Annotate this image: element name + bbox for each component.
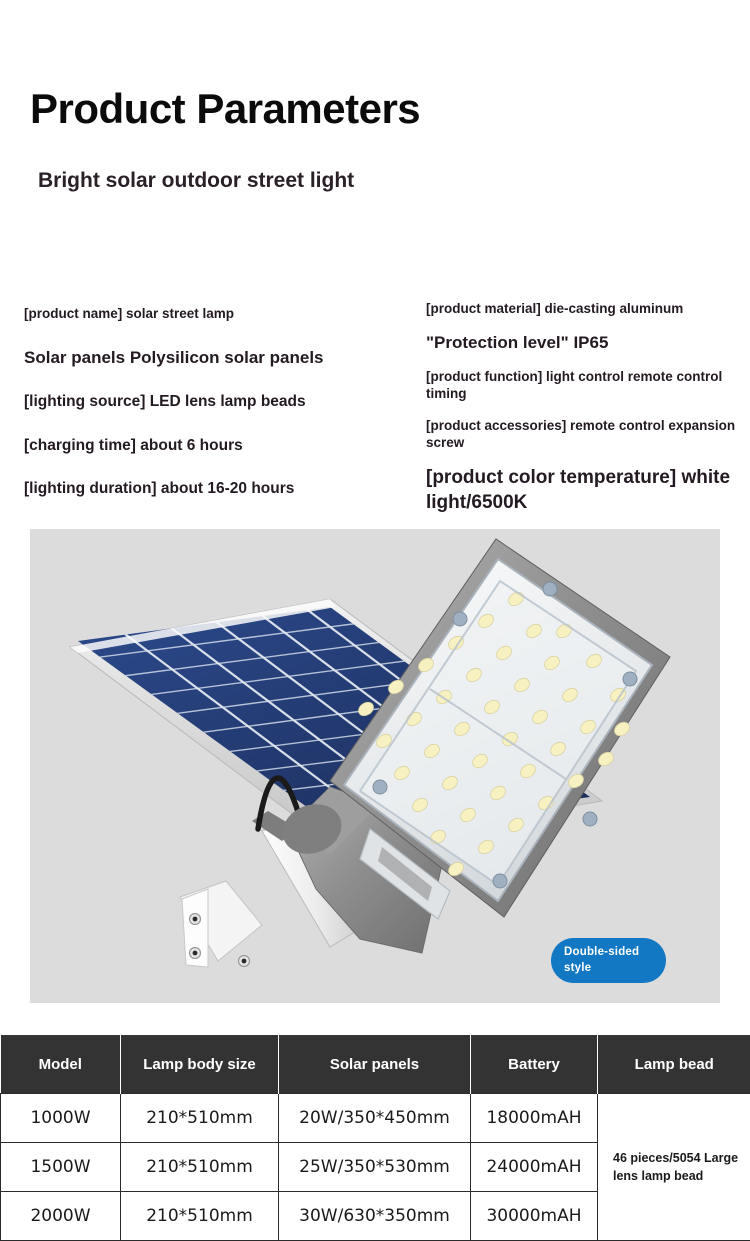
cell-battery: 30000mAH bbox=[471, 1192, 598, 1241]
spec-product-accessories: [product accessories] remote control exp… bbox=[426, 417, 736, 452]
column-header-lamp-bead: Lamp bead bbox=[598, 1035, 750, 1094]
page-subtitle: Bright solar outdoor street light bbox=[38, 168, 354, 193]
column-header-battery: Battery bbox=[471, 1035, 598, 1094]
cell-lamp-bead: 46 pieces/5054 Large lens lamp bead bbox=[598, 1094, 750, 1241]
spec-column-right: [product material] die-casting aluminum … bbox=[426, 300, 736, 529]
cell-body-size: 210*510mm bbox=[121, 1094, 279, 1143]
spec-lighting-duration: [lighting duration] about 16-20 hours bbox=[24, 479, 414, 498]
table-row: 1000W 210*510mm 20W/350*450mm 18000mAH 4… bbox=[1, 1094, 750, 1143]
cell-model: 2000W bbox=[1, 1192, 121, 1241]
cell-battery: 24000mAH bbox=[471, 1143, 598, 1192]
product-parameters-page: Product Parameters Bright solar outdoor … bbox=[0, 0, 750, 1241]
badge-line-1: Double-sided bbox=[564, 946, 639, 958]
product-photo bbox=[30, 529, 720, 1003]
spec-lighting-source: [lighting source] LED lens lamp beads bbox=[24, 392, 414, 411]
page-title: Product Parameters bbox=[30, 88, 420, 130]
cell-body-size: 210*510mm bbox=[121, 1192, 279, 1241]
spec-protection-level: "Protection level" IP65 bbox=[426, 332, 736, 354]
column-header-solar-panels: Solar panels bbox=[279, 1035, 471, 1094]
cell-model: 1500W bbox=[1, 1143, 121, 1192]
badge-line-2: style bbox=[564, 962, 591, 974]
spec-product-name: [product name] solar street lamp bbox=[24, 306, 414, 323]
spec-product-function: [product function] light control remote … bbox=[426, 368, 736, 403]
spec-product-material: [product material] die-casting aluminum bbox=[426, 300, 736, 318]
cell-model: 1000W bbox=[1, 1094, 121, 1143]
double-sided-style-badge: Double-sided style bbox=[551, 938, 666, 983]
cell-solar-panel: 20W/350*450mm bbox=[279, 1094, 471, 1143]
cell-body-size: 210*510mm bbox=[121, 1143, 279, 1192]
spec-table: Model Lamp body size Solar panels Batter… bbox=[0, 1035, 750, 1241]
spec-solar-panels: Solar panels Polysilicon solar panels bbox=[24, 347, 414, 368]
table-header-row: Model Lamp body size Solar panels Batter… bbox=[1, 1035, 750, 1094]
cell-battery: 18000mAH bbox=[471, 1094, 598, 1143]
column-header-model: Model bbox=[1, 1035, 121, 1094]
spec-charging-time: [charging time] about 6 hours bbox=[24, 436, 414, 455]
cell-solar-panel: 30W/630*350mm bbox=[279, 1192, 471, 1241]
column-header-lamp-body-size: Lamp body size bbox=[121, 1035, 279, 1094]
cell-solar-panel: 25W/350*530mm bbox=[279, 1143, 471, 1192]
spec-color-temperature: [product color temperature] white light/… bbox=[426, 466, 736, 515]
spec-column-left: [product name] solar street lamp Solar p… bbox=[24, 306, 414, 522]
